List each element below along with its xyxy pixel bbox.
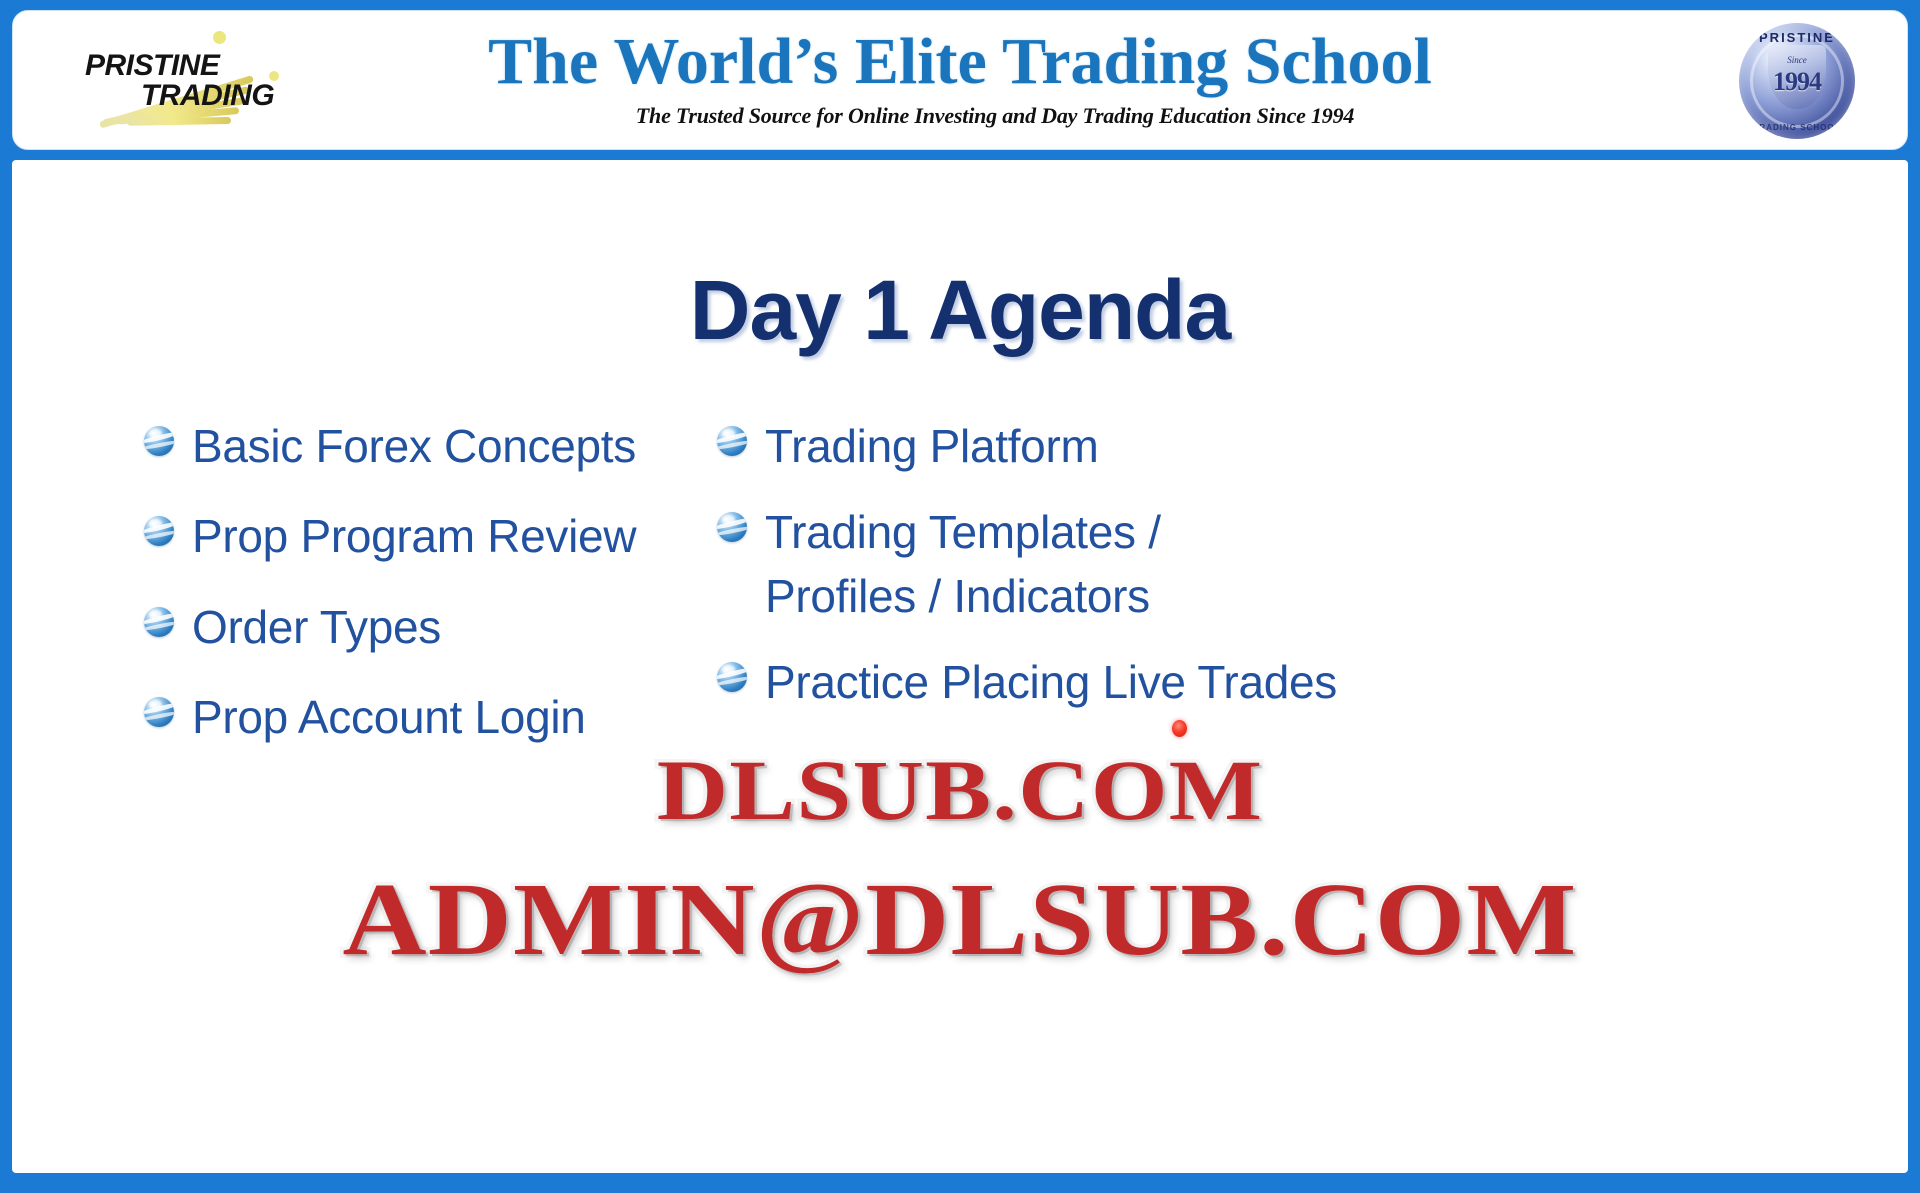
list-item-label: Practice Placing Live Trades xyxy=(765,651,1337,714)
header-slogan: The World’s Elite Trading School xyxy=(13,29,1907,95)
list-item-label: Trading Templates / Profiles / Indicator… xyxy=(765,501,1161,628)
list-item-label: Order Types xyxy=(192,596,441,659)
seal-year-label: 1994 xyxy=(1739,67,1855,97)
laser-pointer-dot xyxy=(1172,720,1187,737)
page-title: Day 1 Agenda xyxy=(12,268,1908,352)
seal-arc-top-label: PRISTINE xyxy=(1739,30,1855,45)
blue-globe-bullet-icon xyxy=(144,516,174,546)
watermark-email: ADMIN@DLSUB.COM xyxy=(12,860,1908,979)
blue-globe-bullet-icon xyxy=(717,426,747,456)
agenda-columns: Basic Forex Concepts Prop Program Review… xyxy=(12,415,1908,777)
list-item: Order Types xyxy=(144,596,662,659)
blue-globe-bullet-icon xyxy=(144,426,174,456)
list-item: Prop Program Review xyxy=(144,505,662,568)
seal-arc-bottom-label: TRADING SCHOOL xyxy=(1739,123,1855,132)
list-item-label: Basic Forex Concepts xyxy=(192,415,636,478)
blue-globe-bullet-icon xyxy=(717,662,747,692)
agenda-column-left: Basic Forex Concepts Prop Program Review… xyxy=(12,415,662,777)
list-item: Trading Templates / Profiles / Indicator… xyxy=(717,501,1522,628)
pristine-since-1994-seal: PRISTINE Since 1994 TRADING SCHOOL xyxy=(1739,23,1855,139)
list-item-label: Prop Program Review xyxy=(192,505,636,568)
slide-root: PRISTINE TRADING The World’s Elite Tradi… xyxy=(0,0,1920,1193)
slide-header: PRISTINE TRADING The World’s Elite Tradi… xyxy=(12,10,1908,150)
blue-globe-bullet-icon xyxy=(717,512,747,542)
header-tagline: The Trusted Source for Online Investing … xyxy=(13,103,1907,129)
list-item-label: Trading Platform xyxy=(765,415,1099,478)
blue-globe-bullet-icon xyxy=(144,607,174,637)
list-item: Trading Platform xyxy=(717,415,1522,478)
blue-globe-bullet-icon xyxy=(144,697,174,727)
seal-since-label: Since xyxy=(1739,55,1855,65)
list-item: Practice Placing Live Trades xyxy=(717,651,1522,714)
slide-body: Day 1 Agenda Basic Forex Concepts Prop P… xyxy=(12,160,1908,1173)
list-item: Basic Forex Concepts xyxy=(144,415,662,478)
watermark-site: DLSUB.COM xyxy=(12,740,1908,840)
agenda-column-right: Trading Platform Trading Templates / Pro… xyxy=(662,415,1522,738)
